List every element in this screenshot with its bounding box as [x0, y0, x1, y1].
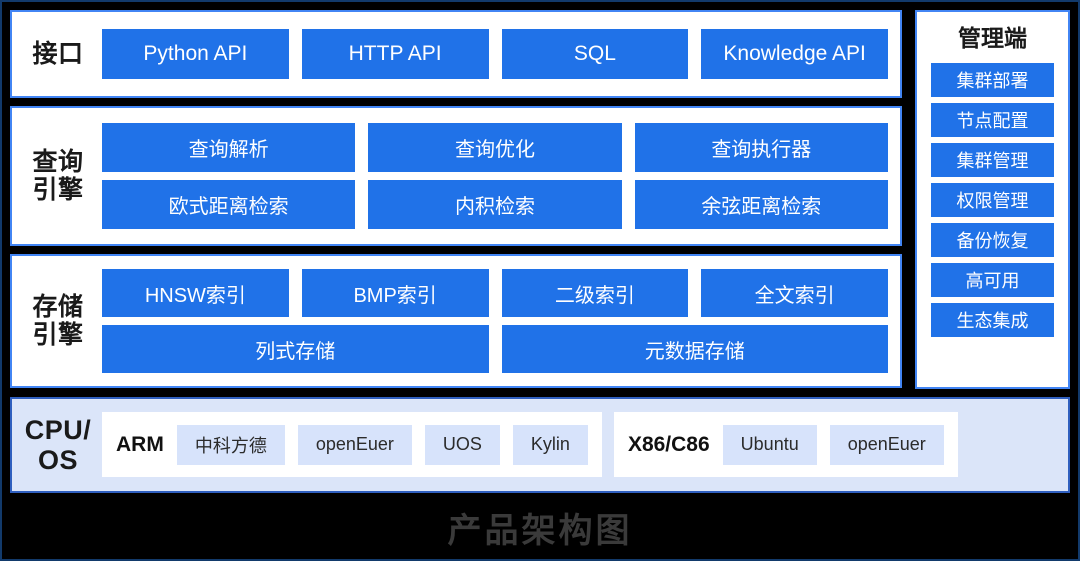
admin-item-node-config[interactable]: 节点配置 — [931, 103, 1054, 137]
storage-item-bmp-index[interactable]: BMP索引 — [302, 269, 489, 317]
storage-item-fulltext-index[interactable]: 全文索引 — [701, 269, 888, 317]
query-item-parser[interactable]: 查询解析 — [102, 123, 355, 172]
diagram-title: 产品架构图 — [448, 503, 633, 552]
query-item-cosine-search[interactable]: 余弦距离检索 — [635, 180, 888, 229]
storage-item-hnsw-index[interactable]: HNSW索引 — [102, 269, 289, 317]
admin-item-cluster-management[interactable]: 集群管理 — [931, 143, 1054, 177]
cpu-arch-arm: ARM — [116, 433, 164, 457]
storage-engine-row-2: 列式存储 元数据存储 — [102, 325, 888, 373]
cpu-arch-x86-c86: X86/C86 — [628, 433, 710, 457]
cpu-group-arm: ARM 中科方德 openEuer UOS Kylin — [102, 412, 602, 477]
cpu-group-x86-c86: X86/C86 Ubuntu openEuer — [614, 412, 958, 477]
layer-storage-engine-label-line1: 存储 — [14, 293, 102, 321]
storage-item-secondary-index[interactable]: 二级索引 — [502, 269, 689, 317]
layer-storage-engine-body: HNSW索引 BMP索引 二级索引 全文索引 列式存储 元数据存储 — [102, 261, 900, 381]
layer-interface-label: 接口 — [12, 40, 102, 68]
query-item-executor[interactable]: 查询执行器 — [635, 123, 888, 172]
layer-storage-engine: 存储 引擎 HNSW索引 BMP索引 二级索引 全文索引 列式存储 元数据存储 — [10, 254, 902, 388]
layer-stack-column: 接口 Python API HTTP API SQL Knowledge API… — [10, 10, 902, 389]
os-chip-kylin[interactable]: Kylin — [513, 425, 588, 465]
query-item-inner-product-search[interactable]: 内积检索 — [368, 180, 621, 229]
admin-item-ecosystem-integration[interactable]: 生态集成 — [931, 303, 1054, 337]
admin-panel: 管理端 集群部署 节点配置 集群管理 权限管理 备份恢复 高可用 生态集成 — [915, 10, 1070, 389]
admin-item-backup-restore[interactable]: 备份恢复 — [931, 223, 1054, 257]
layer-storage-engine-label: 存储 引擎 — [12, 293, 102, 349]
os-chip-uos[interactable]: UOS — [425, 425, 500, 465]
interface-item-python-api[interactable]: Python API — [102, 29, 289, 79]
query-engine-row-1: 查询解析 查询优化 查询执行器 — [102, 123, 888, 172]
os-chip-ubuntu[interactable]: Ubuntu — [723, 425, 817, 465]
layer-cpu-os-label-line2: OS — [14, 445, 102, 475]
os-chip-openeuer-x86[interactable]: openEuer — [830, 425, 944, 465]
os-chip-openeuer-arm[interactable]: openEuer — [298, 425, 412, 465]
upper-section: 接口 Python API HTTP API SQL Knowledge API… — [10, 10, 1070, 389]
admin-item-permission-management[interactable]: 权限管理 — [931, 183, 1054, 217]
layer-query-engine-label: 查询 引擎 — [12, 148, 102, 204]
admin-item-high-availability[interactable]: 高可用 — [931, 263, 1054, 297]
layer-query-engine-label-line2: 引擎 — [14, 176, 102, 204]
layer-cpu-os-label: CPU/ OS — [12, 415, 102, 475]
layer-query-engine-label-line1: 查询 — [14, 148, 102, 176]
interface-item-http-api[interactable]: HTTP API — [302, 29, 489, 79]
interface-item-sql[interactable]: SQL — [502, 29, 689, 79]
storage-item-metadata-storage[interactable]: 元数据存储 — [502, 325, 889, 373]
admin-item-cluster-deploy[interactable]: 集群部署 — [931, 63, 1054, 97]
query-engine-row-2: 欧式距离检索 内积检索 余弦距离检索 — [102, 180, 888, 229]
layer-cpu-os: CPU/ OS ARM 中科方德 openEuer UOS Kylin X86/… — [10, 397, 1070, 493]
layer-cpu-os-body: ARM 中科方德 openEuer UOS Kylin X86/C86 Ubun… — [102, 412, 1068, 477]
layer-query-engine-body: 查询解析 查询优化 查询执行器 欧式距离检索 内积检索 余弦距离检索 — [102, 115, 900, 237]
layer-interface-body: Python API HTTP API SQL Knowledge API — [102, 29, 900, 79]
interface-item-knowledge-api[interactable]: Knowledge API — [701, 29, 888, 79]
storage-item-columnar-storage[interactable]: 列式存储 — [102, 325, 489, 373]
interface-item-row: Python API HTTP API SQL Knowledge API — [102, 29, 888, 79]
layer-interface: 接口 Python API HTTP API SQL Knowledge API — [10, 10, 902, 98]
admin-panel-title: 管理端 — [931, 20, 1054, 57]
diagram-stage: 接口 Python API HTTP API SQL Knowledge API… — [10, 10, 1070, 553]
layer-storage-engine-label-line2: 引擎 — [14, 321, 102, 349]
query-item-euclidean-search[interactable]: 欧式距离检索 — [102, 180, 355, 229]
layer-query-engine: 查询 引擎 查询解析 查询优化 查询执行器 欧式距离检索 内积检索 余弦距离检索 — [10, 106, 902, 246]
query-item-optimizer[interactable]: 查询优化 — [368, 123, 621, 172]
layer-cpu-os-label-line1: CPU/ — [14, 415, 102, 445]
storage-engine-row-1: HNSW索引 BMP索引 二级索引 全文索引 — [102, 269, 888, 317]
footer-title-strip: 产品架构图 — [10, 501, 1070, 553]
os-chip-zhongke-fangde[interactable]: 中科方德 — [177, 425, 285, 465]
architecture-diagram-page: 接口 Python API HTTP API SQL Knowledge API… — [0, 0, 1080, 561]
